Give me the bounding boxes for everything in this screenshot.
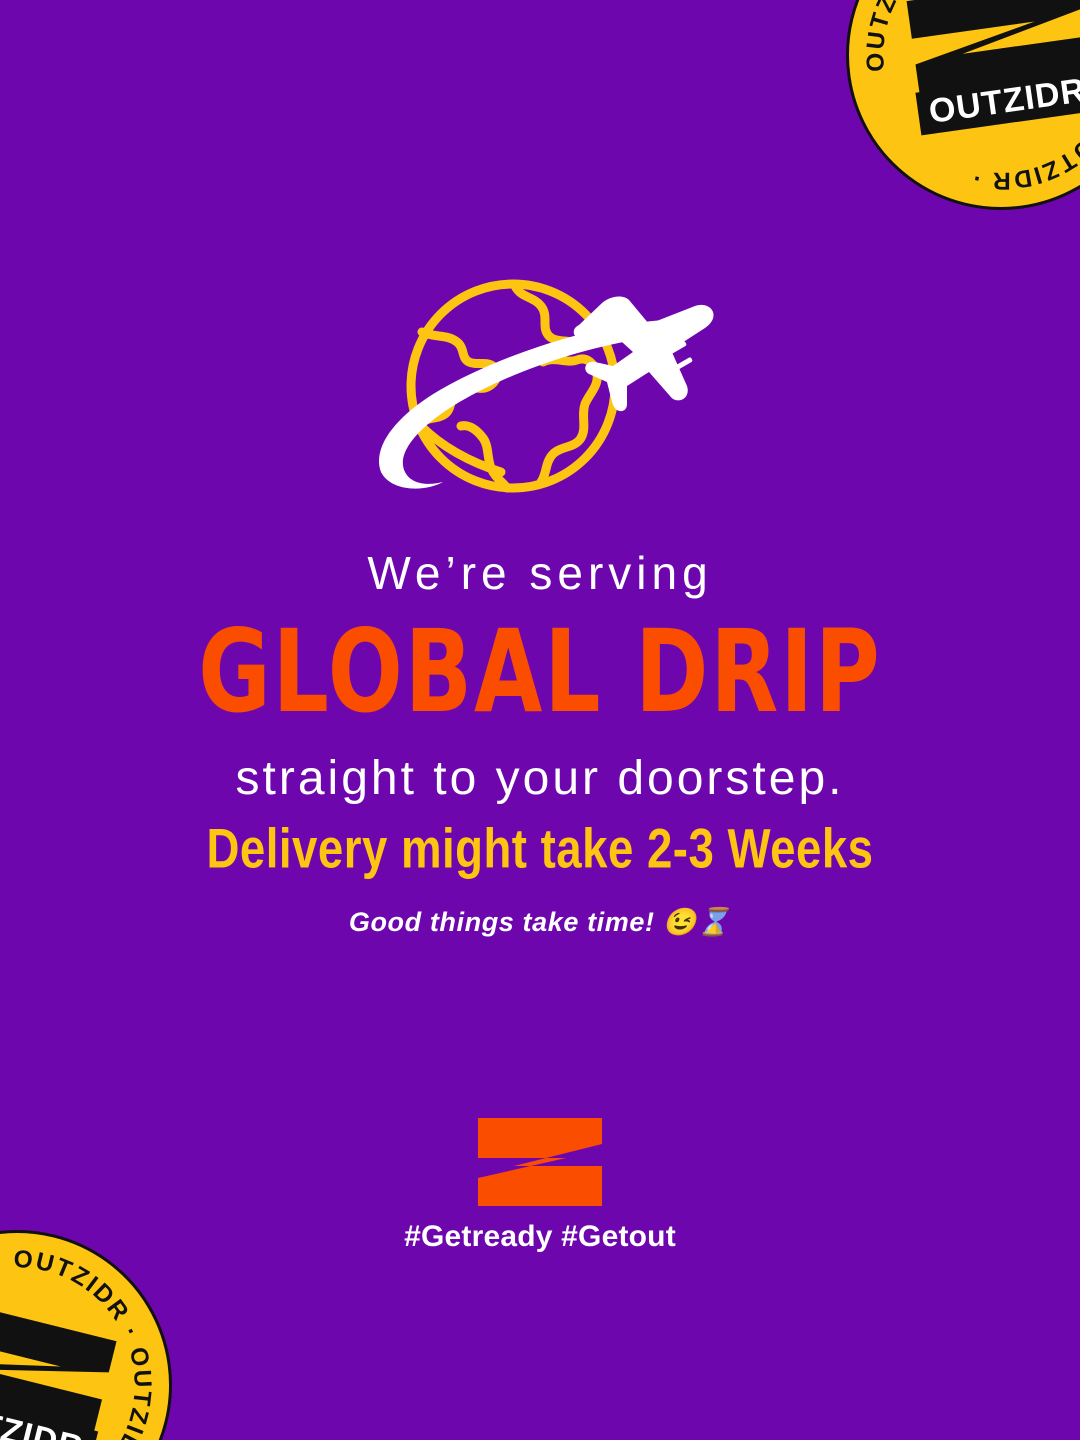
footer-brand-block: #Getready #Getout (0, 1118, 1080, 1254)
delivery-notice-block: Delivery might take 2-3 Weeks Good thing… (0, 818, 1080, 938)
headline-block: We’re serving GLOBAL DRIP straight to yo… (0, 548, 1080, 806)
eyebrow-text: We’re serving (0, 548, 1080, 599)
z-logo-icon-footer (478, 1118, 602, 1206)
delivery-time-text: Delivery might take 2-3 Weeks (16, 818, 1064, 879)
badge-core-lockup: OUTZIDR (902, 0, 1080, 135)
hashtags-text: #Getready #Getout (0, 1220, 1080, 1254)
delivery-reassurance-text: Good things take time! 😉⌛ (0, 906, 1080, 938)
page-title: GLOBAL DRIP (22, 613, 1059, 733)
hero-illustration (0, 276, 1080, 506)
globe-airplane-icon (365, 276, 715, 506)
subline-text: straight to your doorstep. (0, 753, 1080, 806)
brand-sticker-badge-top-right: OUTZIDR · OUTZIDR · OUTZIDR · OUTZIDR · … (826, 0, 1080, 230)
poster-canvas: OUTZIDR · OUTZIDR · OUTZIDR · OUTZIDR · … (0, 0, 1080, 1440)
